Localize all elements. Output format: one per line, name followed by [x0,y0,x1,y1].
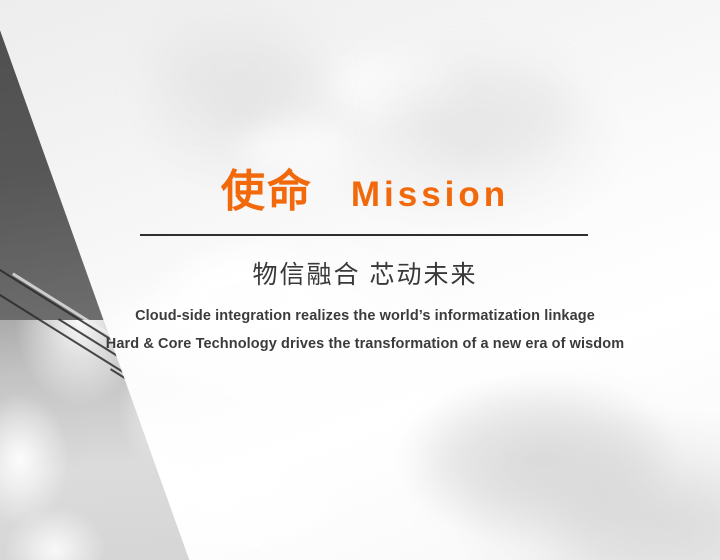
page-title-english: Mission [351,177,509,212]
tagline-line-2: Hard & Core Technology drives the transf… [60,330,670,358]
subtitle-chinese: 物信融合 芯动未来 [140,258,590,293]
hero-title-row: 使命 Mission [140,170,590,214]
page-title-chinese: 使命 [221,170,313,214]
title-divider [140,234,588,236]
mission-hero-banner: 使命 Mission 物信融合 芯动未来 Cloud-side integrat… [0,0,720,560]
tagline-line-1: Cloud-side integration realizes the worl… [60,302,670,330]
hero-content: 使命 Mission 物信融合 芯动未来 Cloud-side integrat… [0,0,720,560]
tagline-group: Cloud-side integration realizes the worl… [60,302,670,359]
